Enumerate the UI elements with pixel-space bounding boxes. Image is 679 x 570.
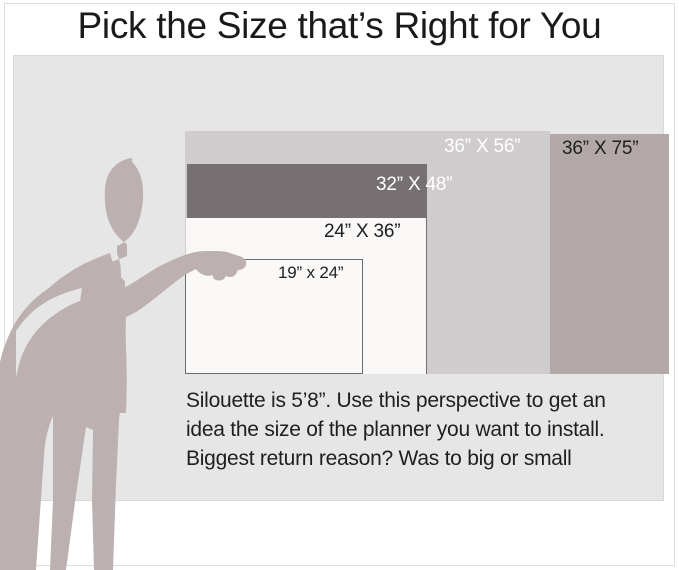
infographic-canvas: Pick the Size that’s Right for You 36” X… xyxy=(0,0,679,570)
description-text: Silouette is 5’8”. Use this perspective … xyxy=(186,386,676,473)
page-title: Pick the Size that’s Right for You xyxy=(0,0,679,52)
size-label-36x75: 36” X 75” xyxy=(562,138,638,160)
description-line-1: Silouette is 5’8”. Use this perspective … xyxy=(186,386,676,415)
size-label-24x36: 24” X 36” xyxy=(324,221,400,243)
size-rect-36x75 xyxy=(550,134,669,374)
description-line-3: Biggest return reason? Was to big or sma… xyxy=(186,444,676,473)
stage-panel: 36” X 75” 36” X 56” 32” X 48” 24” X 36” … xyxy=(13,55,664,501)
size-label-19x24: 19” x 24” xyxy=(278,263,343,283)
description-line-2: idea the size of the planner you want to… xyxy=(186,415,676,444)
size-label-36x56: 36” X 56” xyxy=(444,136,520,158)
size-label-32x48: 32” X 48” xyxy=(376,174,452,196)
